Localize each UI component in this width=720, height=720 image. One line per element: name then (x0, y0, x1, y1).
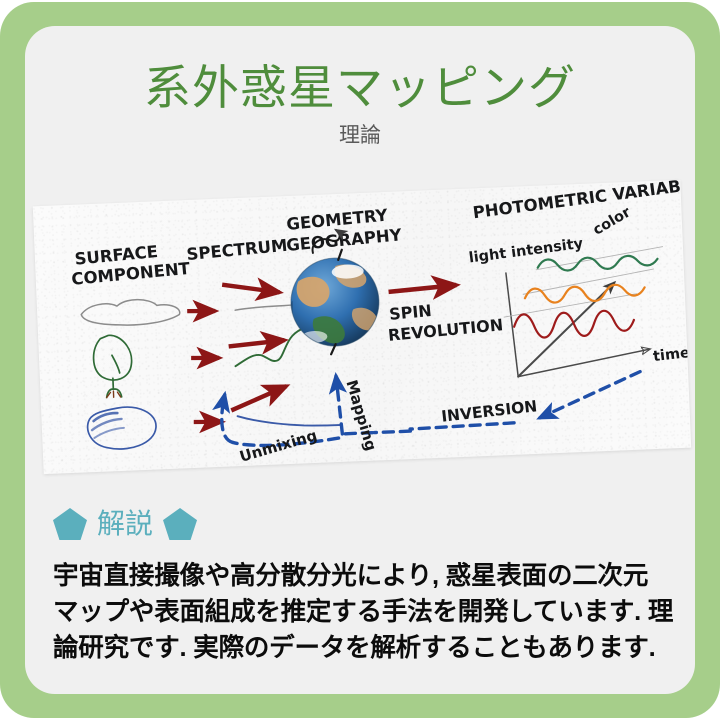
arrow-component-to-spectrum (187, 310, 222, 423)
lightcurve-green (537, 255, 657, 272)
label-photometric-variability: PHOTOMETRIC VARIABLITY (472, 180, 692, 222)
sketch-cloud (81, 298, 180, 327)
label-spin-revolution: SPIN REVOLUTION (386, 298, 504, 345)
commentary-line-1: 宇宙直接撮像や高分散分光により, 惑星表面の二次元 (53, 558, 673, 594)
pentagon-right-icon (163, 508, 197, 540)
diagram-figure: SURFACE COMPONENT SPECTRUM GEOMETRY GEOG… (30, 171, 690, 491)
content-panel: 系外惑星マッピング 理論 (25, 26, 695, 694)
commentary-line-2: マップや表面組成を推定する手法を開発しています. 理 (53, 594, 673, 630)
lightcurve-orange (525, 284, 646, 304)
page-subtitle: 理論 (25, 122, 695, 150)
svg-text:SPIN: SPIN (388, 301, 432, 324)
label-inversion: INVERSION (440, 397, 538, 426)
label-spectrum: SPECTRUM (186, 236, 288, 264)
sketch-tree (93, 334, 133, 398)
pentagon-left-icon (53, 508, 87, 540)
label-surface-component: SURFACE COMPONENT (70, 241, 192, 289)
arrow-spectrum-to-planet (222, 282, 287, 410)
label-geometry-geography: GEOMETRY GEOGRAPHY (284, 205, 403, 255)
commentary-body: 宇宙直接撮像や高分散分光により, 惑星表面の二次元 マップや表面組成を推定する手… (25, 552, 695, 666)
label-light-intensity: light intensity (468, 236, 585, 267)
commentary-section: 解説 宇宙直接撮像や高分散分光により, 惑星表面の二次元 マップや表面組成を推定… (25, 496, 695, 666)
spectrum-ocean (238, 412, 342, 429)
sketch-ocean (87, 406, 157, 450)
commentary-heading: 解説 (97, 508, 153, 540)
label-time: time (652, 345, 691, 365)
page-title: 系外惑星マッピング (25, 60, 695, 116)
commentary-line-3: 論研究です. 実際のデータを解析することもあります. (53, 630, 673, 666)
label-color: color (590, 204, 634, 239)
diagram-sketch: SURFACE COMPONENT SPECTRUM GEOMETRY GEOG… (33, 180, 691, 474)
arrow-spin-revolution (388, 285, 456, 292)
slide-root: 系外惑星マッピング 理論 (0, 0, 720, 720)
label-mapping: Mapping (342, 378, 380, 453)
commentary-heading-row: 解説 (25, 496, 695, 552)
label-unmixing: Unmixing (237, 426, 319, 466)
lightcurve-red (514, 310, 635, 339)
